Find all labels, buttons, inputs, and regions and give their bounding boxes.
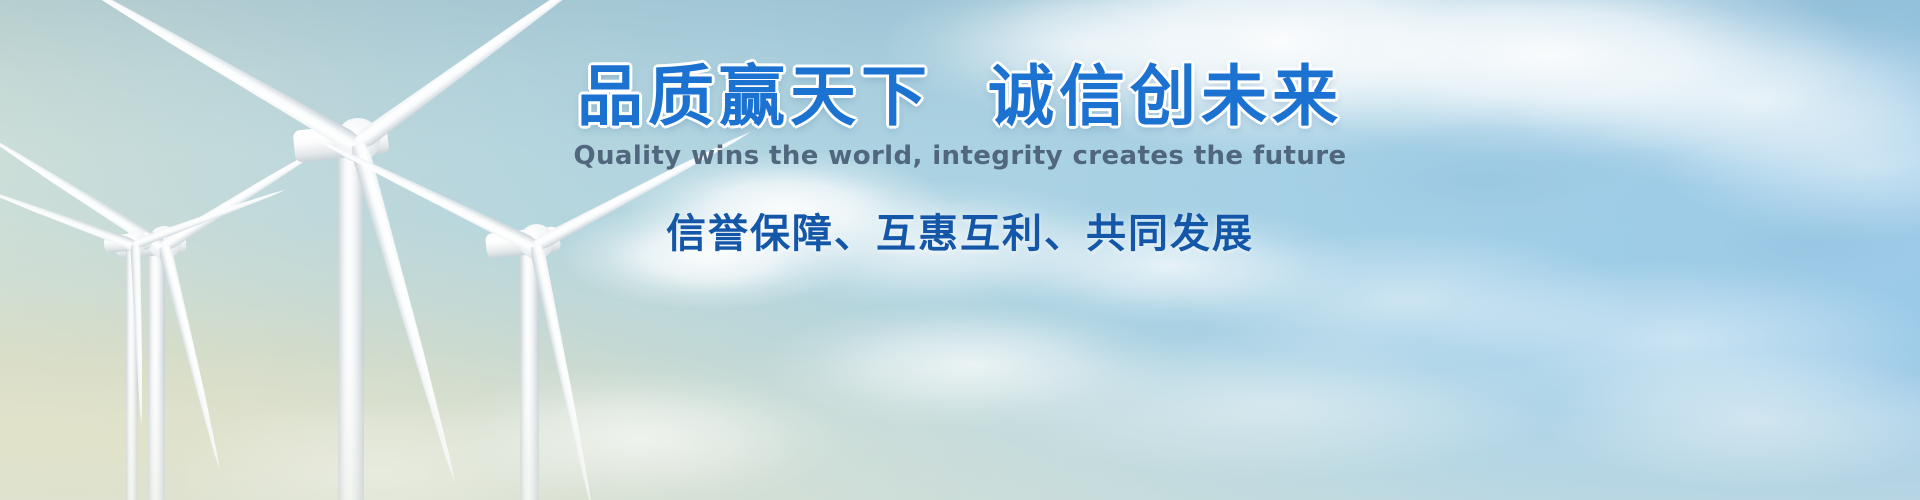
- promotional-banner: 品质赢天下 诚信创未来 Quality wins the world, inte…: [0, 0, 1920, 500]
- banner-subtitle: Quality wins the world, integrity create…: [0, 141, 1920, 171]
- banner-tagline: 信誉保障、互惠互利、共同发展: [0, 201, 1920, 259]
- banner-copy-block: 品质赢天下 诚信创未来 Quality wins the world, inte…: [0, 62, 1920, 259]
- banner-headline: 品质赢天下 诚信创未来: [0, 62, 1920, 131]
